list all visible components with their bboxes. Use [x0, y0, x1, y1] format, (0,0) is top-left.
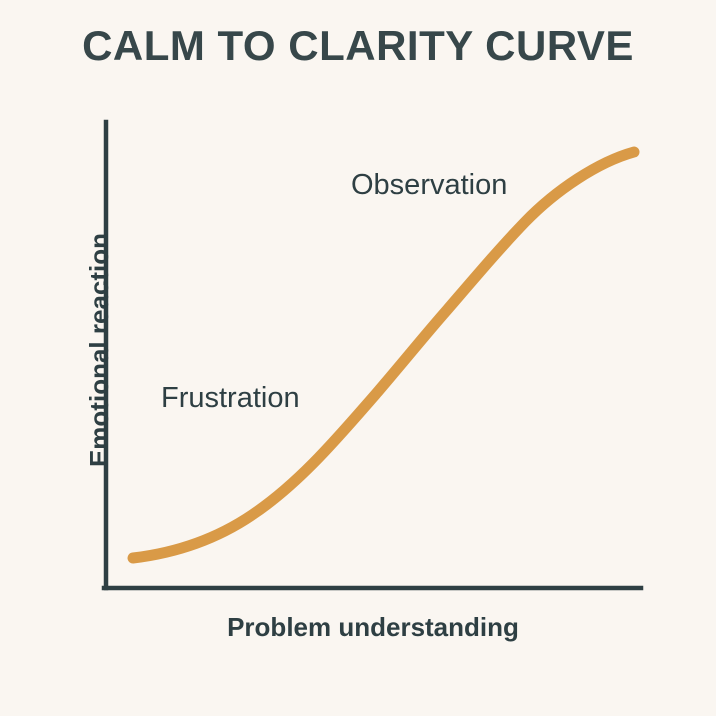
- y-axis-label: Emotional reaction: [84, 160, 115, 540]
- sigmoid-curve: [133, 152, 634, 558]
- x-axis-label: Problem understanding: [105, 612, 641, 643]
- annotation-frustration: Frustration: [161, 382, 300, 415]
- annotation-observation: Observation: [351, 169, 507, 202]
- chart-canvas: CALM TO CLARITY CURVE Observation Frustr…: [0, 0, 716, 716]
